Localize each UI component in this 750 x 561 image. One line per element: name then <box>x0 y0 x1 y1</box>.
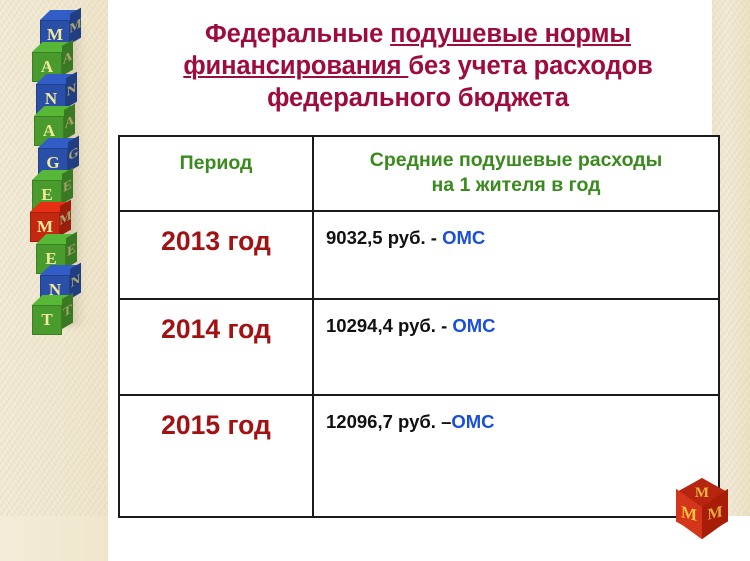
amount-text: 9032,5 руб. - <box>326 227 442 248</box>
value-label: 9032,5 руб. - ОМС <box>314 212 718 250</box>
cube-side-face: E <box>62 168 73 204</box>
cube-logo-icon: M M M <box>676 478 732 540</box>
header-label-value: Средние подушевые расходы на 1 жителя в … <box>314 137 718 210</box>
cell-period-2015: 2015 год <box>119 395 313 517</box>
cube-side-face: M <box>70 8 81 44</box>
amount-text: 12096,7 руб. – <box>326 411 451 432</box>
cell-period-2013: 2013 год <box>119 211 313 299</box>
cube-side-face: A <box>64 104 75 140</box>
title-part-line3: федерального бюджета <box>267 84 569 112</box>
period-label: 2015 год <box>120 396 312 440</box>
block-cube-8: E E <box>36 238 70 268</box>
slide-canvas: M M A A N N A A G G E E <box>0 0 750 561</box>
cube-side-face: N <box>66 72 77 108</box>
cube-side-face: M <box>60 200 71 236</box>
period-label: 2013 год <box>120 212 312 256</box>
cube-side-face: G <box>68 136 79 172</box>
table-row: 2014 год 10294,4 руб. - ОМС <box>119 299 719 395</box>
cube-side-face: A <box>62 40 73 76</box>
title-part-plain-2: без учета расходов <box>408 52 652 80</box>
title-part-underlined-1: подушевые нормы <box>390 20 631 48</box>
program-text: ОМС <box>451 411 494 432</box>
table-row: 2013 год 9032,5 руб. - ОМС <box>119 211 719 299</box>
block-cube-7: M M <box>30 206 64 236</box>
value-label: 12096,7 руб. –ОМС <box>314 396 718 434</box>
table-header-row: Период Средние подушевые расходы на 1 жи… <box>119 136 719 211</box>
block-cube-6: E E <box>32 174 66 204</box>
amount-text: 10294,4 руб. - <box>326 315 452 336</box>
block-cube-3: N N <box>36 78 70 108</box>
value-label: 10294,4 руб. - ОМС <box>314 300 718 338</box>
cube-side-face: T <box>62 293 73 329</box>
block-cube-10: T T <box>32 299 66 329</box>
cell-value-2015: 12096,7 руб. –ОМС <box>313 395 719 517</box>
header-value-line1: Средние подушевые расходы <box>370 149 663 171</box>
management-block-tower: M M A A N N A A G G E E <box>24 8 88 328</box>
cell-value-2014: 10294,4 руб. - ОМС <box>313 299 719 395</box>
header-label-period: Период <box>120 137 312 190</box>
block-cube-5: G G <box>38 142 72 172</box>
block-cube-1: M M <box>40 14 74 44</box>
period-label: 2014 год <box>120 300 312 344</box>
per-capita-funding-table: Период Средние подушевые расходы на 1 жи… <box>118 135 720 518</box>
header-cell-period: Период <box>119 136 313 211</box>
block-cube-2: A A <box>32 46 66 76</box>
title-part-underlined-2: финансирования <box>183 52 408 80</box>
table-row: 2015 год 12096,7 руб. –ОМС <box>119 395 719 517</box>
header-cell-value: Средние подушевые расходы на 1 жителя в … <box>313 136 719 211</box>
cube-front-letter: T <box>32 305 62 335</box>
slide-title: Федеральные подушевые нормы финансирован… <box>118 18 718 114</box>
block-cube-4: A A <box>34 110 68 140</box>
cell-value-2013: 9032,5 руб. - ОМС <box>313 211 719 299</box>
cell-period-2014: 2014 год <box>119 299 313 395</box>
background-bottom-strip <box>0 516 108 561</box>
title-part-plain-1: Федеральные <box>205 20 390 48</box>
cube-side-face: E <box>66 232 77 268</box>
header-value-line2: на 1 жителя в год <box>432 174 601 196</box>
program-text: ОМС <box>452 315 495 336</box>
program-text: ОМС <box>442 227 485 248</box>
background-bottom <box>0 516 750 561</box>
